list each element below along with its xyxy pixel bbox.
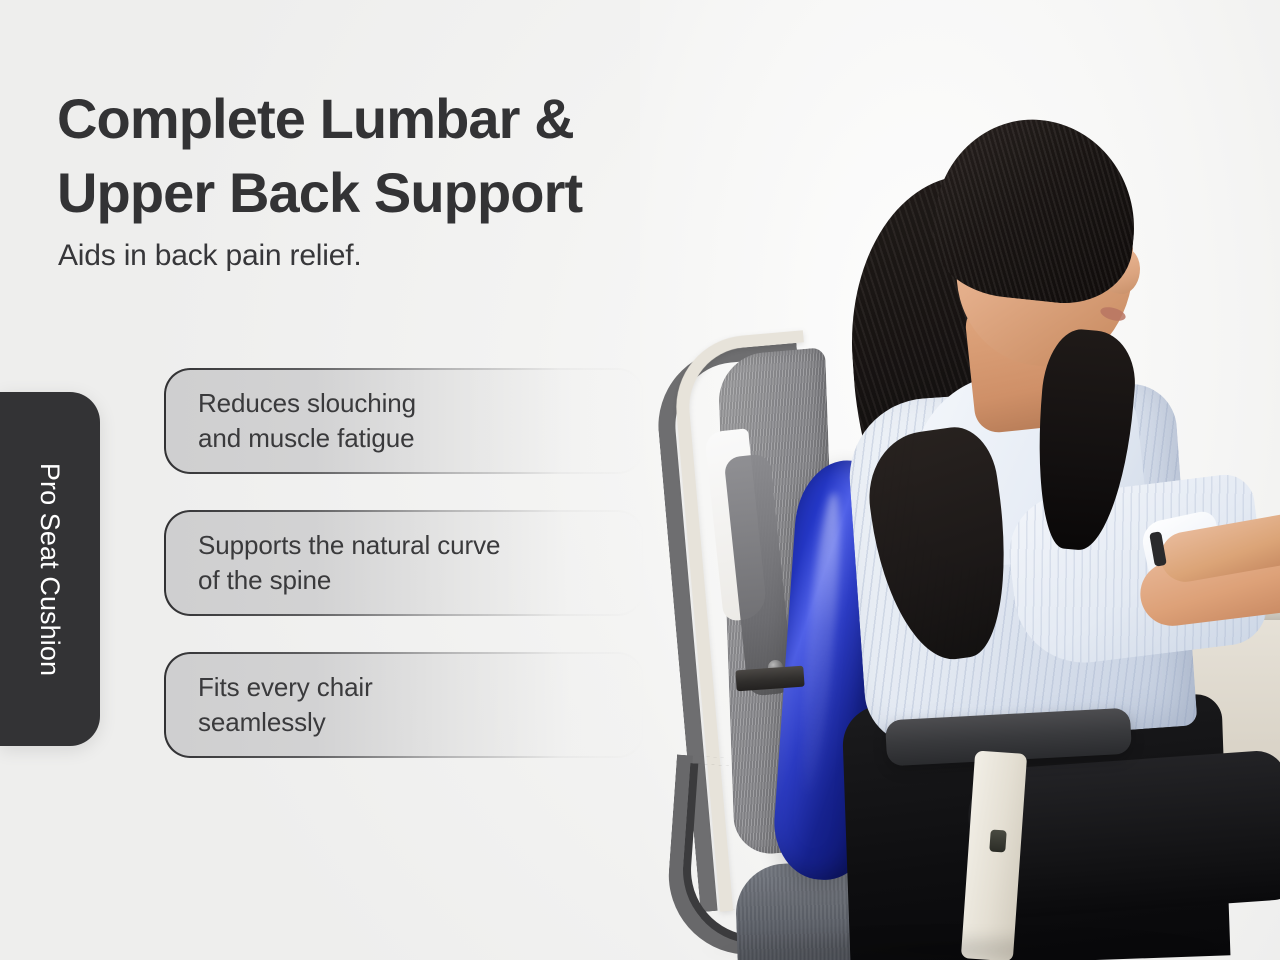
photo-ground-shadow xyxy=(700,930,1220,960)
feature-pill-1-label: Reduces slouching and muscle fatigue xyxy=(164,386,430,456)
chair-armrest-button xyxy=(989,829,1006,852)
page-title: Complete Lumbar & Upper Back Support xyxy=(57,82,717,230)
feature-list: Reduces slouching and muscle fatigue Sup… xyxy=(164,368,644,794)
feature-pill-3-label: Fits every chair seamlessly xyxy=(164,670,387,740)
page-subtitle: Aids in back pain relief. xyxy=(58,236,362,276)
feature-pill-3: Fits every chair seamlessly xyxy=(164,652,644,758)
feature-pill-2-label: Supports the natural curve of the spine xyxy=(164,528,514,598)
product-lifestyle-photo xyxy=(640,0,1280,960)
feature-pill-2: Supports the natural curve of the spine xyxy=(164,510,644,616)
product-name-tab-label: Pro Seat Cushion xyxy=(35,462,66,675)
feature-pill-1: Reduces slouching and muscle fatigue xyxy=(164,368,644,474)
promo-banner: Complete Lumbar & Upper Back Support Aid… xyxy=(0,0,1280,960)
product-name-tab: Pro Seat Cushion xyxy=(0,392,100,746)
